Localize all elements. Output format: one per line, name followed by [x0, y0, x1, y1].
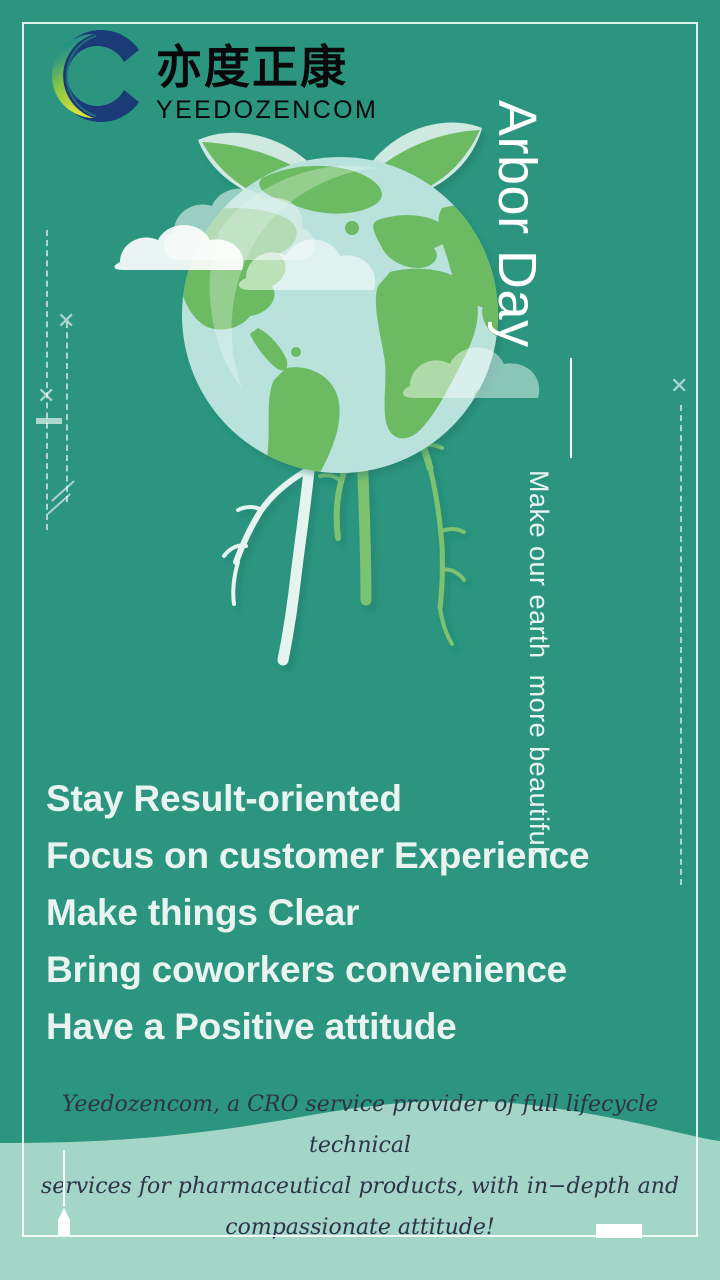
left-x-mark-a: ✕: [37, 385, 55, 407]
slogan-line: Have a Positive attitude: [46, 998, 666, 1055]
frame-corner-nub: [596, 1224, 642, 1238]
footer-description: Yeedozencom, a CRO service provider of f…: [40, 1084, 680, 1248]
right-dashed-line: [680, 405, 682, 885]
left-diagonal-stroke-a: [51, 480, 75, 502]
slogan-line: Focus on customer Experience: [46, 827, 666, 884]
headline-divider: [570, 358, 572, 458]
footer-line: services for pharmaceutical products, wi…: [40, 1166, 680, 1207]
left-diagonal-stroke-b: [47, 493, 71, 515]
vertical-headline-block: Arbor Day Make our earth more beautiful: [556, 100, 666, 820]
footer-line: compassionate attitude!: [40, 1207, 680, 1248]
slogan-line: Make things Clear: [46, 884, 666, 941]
pencil-icon: [54, 1150, 74, 1240]
right-x-mark: ✕: [670, 375, 688, 397]
slogan-list: Stay Result-oriented Focus on customer E…: [46, 770, 666, 1055]
logo-chinese-name: 亦度正康: [156, 44, 348, 90]
left-x-mark-b: ✕: [57, 310, 75, 332]
left-dashed-line-b: [66, 322, 68, 502]
poster-canvas: ✕ ✕ ✕ 亦度正康 YEEDOZENCOM: [0, 0, 720, 1280]
arbor-day-title: Arbor Day: [472, 100, 544, 350]
left-dashed-line-a: [46, 230, 48, 530]
left-dash-bar: [36, 418, 62, 424]
footer-line: Yeedozencom, a CRO service provider of f…: [40, 1084, 680, 1166]
slogan-line: Bring coworkers convenience: [46, 941, 666, 998]
slogan-line: Stay Result-oriented: [46, 770, 666, 827]
